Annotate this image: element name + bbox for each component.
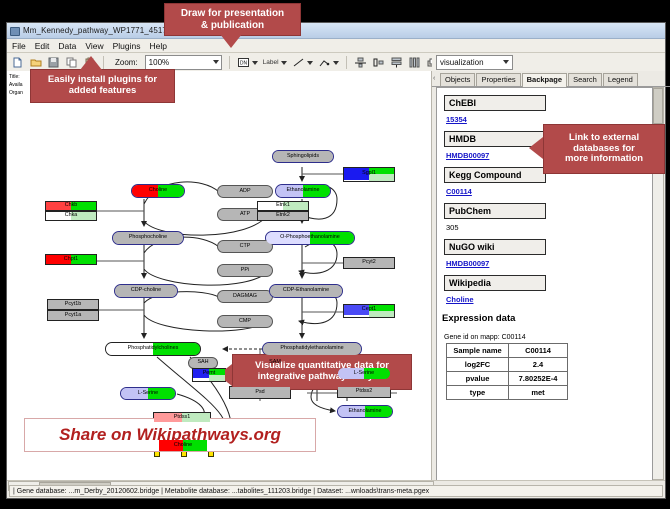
callout-link-line1: Link to external: [569, 133, 639, 144]
cell-value: 7.80252E-4: [509, 372, 568, 386]
open-folder-icon[interactable]: [29, 56, 42, 69]
db-header-wikipedia: Wikipedia: [444, 275, 546, 291]
chevron-down-icon: [281, 61, 287, 65]
gene-psd[interactable]: Psd: [229, 386, 291, 399]
node-l-serine-left[interactable]: L-Serine: [120, 387, 176, 400]
gene-chpt1[interactable]: Chpt1: [45, 254, 97, 265]
gene-pcyt1a[interactable]: Pcyt1a: [47, 310, 99, 321]
screenshot-root: Mm_Kennedy_pathway_WP1771_45176.gpml Fil…: [0, 0, 670, 509]
cell-value: met: [509, 386, 568, 400]
title-bar: Mm_Kennedy_pathway_WP1771_45176.gpml: [7, 23, 665, 39]
node-phosphocholine[interactable]: Phosphocholine: [112, 231, 184, 245]
gene-chka[interactable]: Chka: [45, 211, 97, 221]
chevron-down-icon: [503, 60, 509, 64]
table-row: type met: [447, 386, 568, 400]
line-icon: [292, 56, 305, 69]
gene-pcyt2[interactable]: Pcyt2: [343, 257, 395, 269]
node-sphingolipids[interactable]: Sphingolipids: [272, 150, 334, 163]
db-value-pubchem: 305: [446, 223, 652, 232]
align-tool-icon[interactable]: [354, 56, 367, 69]
node-o-phosphoethanolamine[interactable]: O-Phosphoethanolamine: [265, 231, 355, 245]
chevron-down-icon: [307, 61, 313, 65]
chevron-down-icon: [213, 60, 219, 64]
datanode-icon: DN: [237, 56, 250, 69]
db-link-wikipedia[interactable]: Choline: [446, 295, 652, 304]
gene-ptdss2[interactable]: Ptdss2: [337, 386, 391, 398]
interaction-tool-button[interactable]: [318, 56, 339, 69]
visualization-select[interactable]: visualization: [436, 55, 513, 70]
zoom-select[interactable]: 100%: [145, 55, 222, 70]
menu-item-plugins[interactable]: Plugins: [113, 41, 141, 51]
callout-draw-line2: & publication: [201, 20, 264, 32]
visualization-value: visualization: [440, 58, 484, 67]
node-ppi[interactable]: PPi: [217, 264, 273, 277]
tab-legend[interactable]: Legend: [603, 73, 638, 86]
callout-link-databases: Link to external databases for more info…: [543, 124, 665, 174]
visualization-row: visualization: [432, 54, 665, 70]
scrollbar-thumb[interactable]: [653, 88, 663, 124]
toolbar-separator: [103, 56, 104, 69]
node-choline-top[interactable]: Choline: [131, 184, 185, 198]
menu-item-help[interactable]: Help: [150, 41, 167, 51]
new-file-icon[interactable]: [11, 56, 24, 69]
svg-text:DN: DN: [240, 61, 248, 67]
menu-bar: File Edit Data View Plugins Help: [7, 39, 665, 53]
node-adp[interactable]: ADP: [217, 185, 273, 198]
node-l-serine-right[interactable]: L-Serine: [337, 367, 391, 380]
node-phosphatidylcholines[interactable]: Phosphatidylcholines: [105, 342, 201, 356]
table-row: pvalue 7.80252E-4: [447, 372, 568, 386]
callout-link-arrow-icon: [529, 137, 543, 159]
line-tool-button[interactable]: [292, 56, 313, 69]
db-link-nugo[interactable]: HMDB00097: [446, 259, 652, 268]
db-header-kegg: Kegg Compound: [444, 167, 546, 183]
tab-backpage[interactable]: Backpage: [522, 73, 567, 87]
callout-plugins: Easily install plugins for added feature…: [30, 69, 175, 103]
label-tool-button[interactable]: Label: [263, 59, 287, 66]
gene-chkb[interactable]: Chkb: [45, 201, 97, 211]
cell-value: 2.4: [509, 358, 568, 372]
gene-ptdss1[interactable]: Ptdss1: [153, 412, 211, 423]
gene-id-line: Gene id on mapp: C00114: [444, 334, 652, 341]
node-ethanolamine-bottom[interactable]: Ethanolamine: [337, 405, 393, 418]
status-area: | Gene database: ...m_Derby_20120602.bri…: [7, 480, 665, 498]
interaction-icon: [318, 56, 331, 69]
application-icon: [10, 26, 19, 35]
callout-link-line3: more information: [565, 154, 643, 165]
group-tool-icon[interactable]: [372, 56, 385, 69]
callout-draw-arrow-icon: [220, 34, 242, 48]
menu-item-data[interactable]: Data: [58, 41, 76, 51]
callout-plugins-arrow-icon: [80, 56, 102, 70]
zoom-label: Zoom:: [115, 58, 138, 67]
save-icon[interactable]: [47, 56, 60, 69]
expression-data-heading: Expression data: [442, 313, 652, 324]
cell-key: Sample name: [447, 344, 509, 358]
datanode-tool-button[interactable]: DN: [237, 56, 258, 69]
expression-table: Sample name C00114 log2FC 2.4 pvalue 7.8…: [446, 343, 568, 400]
cell-key: pvalue: [447, 372, 509, 386]
side-panel-tabs: Objects Properties Backpage Search Legen…: [432, 73, 670, 87]
node-ctp[interactable]: CTP: [217, 240, 273, 253]
stack-tool-icon[interactable]: [390, 56, 403, 69]
db-header-nugo: NuGO wiki: [444, 239, 546, 255]
cell-value: C00114: [509, 344, 568, 358]
gene-etnk2[interactable]: Etnk2: [257, 211, 309, 221]
cell-key: log2FC: [447, 358, 509, 372]
callout-plugins-line2: added features: [69, 86, 137, 97]
node-dagmag[interactable]: DAGMAG: [217, 290, 273, 303]
gene-pcyt1b[interactable]: Pcyt1b: [47, 299, 99, 310]
db-header-chebi: ChEBI: [444, 95, 546, 111]
node-ethanolamine-top[interactable]: Ethanolamine: [275, 184, 331, 198]
node-phosphatidylethanolamine[interactable]: Phosphatidylethanolamine: [262, 342, 362, 356]
node-cmp[interactable]: CMP: [217, 315, 273, 328]
status-bar: | Gene database: ...m_Derby_20120602.bri…: [9, 485, 663, 497]
distribute-tool-icon[interactable]: [408, 56, 421, 69]
label-tool-label: Label: [263, 59, 279, 66]
chevron-down-icon: [252, 61, 258, 65]
db-header-pubchem: PubChem: [444, 203, 546, 219]
menu-item-file[interactable]: File: [12, 41, 26, 51]
table-row: log2FC 2.4: [447, 358, 568, 372]
node-cdp-choline[interactable]: CDP-choline: [114, 284, 178, 298]
toolbar-separator: [346, 56, 347, 69]
db-link-kegg[interactable]: C00114: [446, 187, 652, 196]
tab-search[interactable]: Search: [568, 73, 602, 86]
tab-objects[interactable]: Objects: [440, 73, 475, 86]
node-choline-selected[interactable]: Choline: [158, 439, 208, 452]
zoom-value: 100%: [149, 58, 169, 67]
db-link-chebi[interactable]: 15354: [446, 115, 652, 124]
toolbar-separator: [229, 56, 230, 69]
cell-key: type: [447, 386, 509, 400]
tab-properties[interactable]: Properties: [476, 73, 520, 86]
menu-item-view[interactable]: View: [85, 41, 103, 51]
chevron-down-icon: [333, 61, 339, 65]
copy-icon[interactable]: [65, 56, 78, 69]
gene-etnk1[interactable]: Etnk1: [257, 201, 309, 211]
callout-draw-line1: Draw for presentation: [181, 8, 284, 20]
table-row: Sample name C00114: [447, 344, 568, 358]
node-cdp-ethanolamine[interactable]: CDP-Ethanolamine: [269, 284, 343, 298]
menu-item-edit[interactable]: Edit: [35, 41, 50, 51]
callout-draw: Draw for presentation & publication: [164, 3, 301, 36]
